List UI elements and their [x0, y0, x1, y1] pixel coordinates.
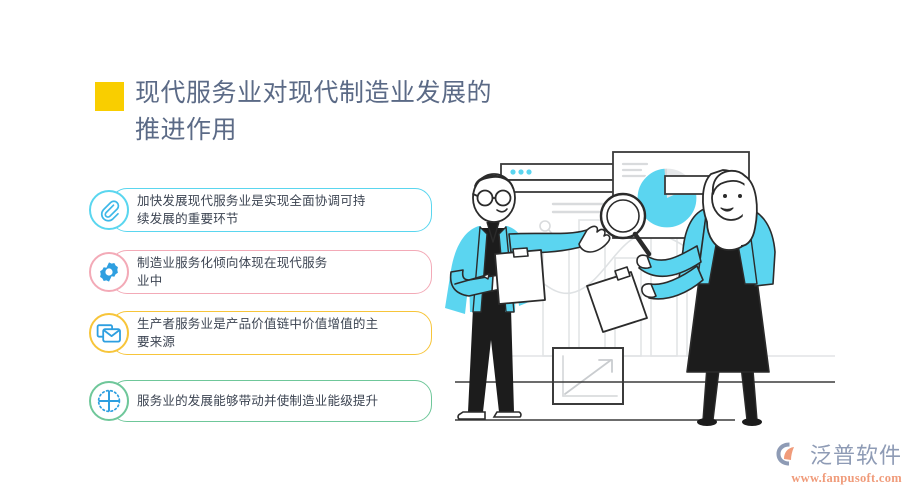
list-item[interactable]: 生产者服务业是产品价值链中价值增值的主 要来源 — [110, 311, 432, 355]
paperclip-icon — [89, 190, 129, 230]
fanpu-logo-icon — [775, 441, 805, 467]
brand-logo: 泛普软件 www.fanpusoft.com — [752, 438, 902, 488]
list-item[interactable]: 加快发展现代服务业是实现全面协调可持 续发展的重要环节 — [110, 188, 432, 232]
logo-row: 泛普软件 — [752, 438, 902, 470]
dashboard-analysis-illustration — [435, 150, 855, 440]
list-item-label: 制造业服务化倾向体现在现代服务 业中 — [137, 254, 328, 291]
logo-name: 泛普软件 — [810, 438, 902, 470]
crosshair-icon — [89, 381, 129, 421]
list-item[interactable]: 制造业服务化倾向体现在现代服务 业中 — [110, 250, 432, 294]
mail-icon — [89, 313, 129, 353]
gear-icon — [89, 252, 129, 292]
title-bullet-square — [95, 82, 124, 111]
list-item[interactable]: 服务业的发展能够带动并使制造业能级提升 — [110, 380, 432, 422]
slide-canvas: 现代服务业对现代制造业发展的 推进作用 加快发展现代服务业是实现全面协调可持 续… — [0, 0, 920, 500]
list-item-label: 服务业的发展能够带动并使制造业能级提升 — [137, 392, 378, 411]
list-item-label: 加快发展现代服务业是实现全面协调可持 续发展的重要环节 — [137, 192, 366, 229]
title-text: 现代服务业对现代制造业发展的 推进作用 — [135, 75, 525, 149]
logo-url: www.fanpusoft.com — [752, 471, 902, 486]
list-item-label: 生产者服务业是产品价值链中价值增值的主 要来源 — [137, 315, 378, 352]
